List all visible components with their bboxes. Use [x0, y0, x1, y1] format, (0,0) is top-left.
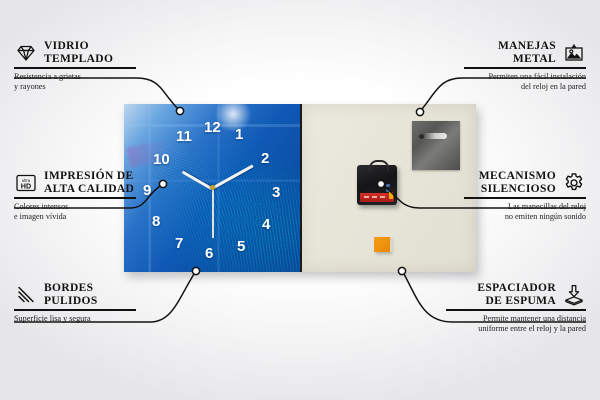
callout-rule [14, 197, 136, 199]
callout-title: MANEJASMETAL [498, 40, 556, 65]
battery-terminal [389, 192, 393, 199]
foam-spacer [374, 237, 390, 252]
hour-numeral-9: 9 [143, 183, 151, 198]
foam-spacer-icon [562, 283, 586, 307]
mechanism-hook [369, 160, 389, 171]
clock-hub [210, 185, 215, 190]
callout-header: MANEJASMETAL [464, 40, 586, 65]
clock-face: 12 1 2 3 4 5 6 7 8 9 10 11 [124, 104, 300, 272]
callout-vidrio-templado[interactable]: VIDRIOTEMPLADO Resistencia a grietasy ra… [14, 40, 136, 93]
hanger-hole [419, 134, 424, 139]
callout-title: MECANISMOSILENCIOSO [479, 170, 556, 195]
callout-manejas-metal[interactable]: MANEJASMETAL Permiten una fácil instalac… [464, 40, 586, 93]
callout-subtitle: Permite mantener una distanciauniforme e… [446, 314, 586, 335]
hour-numeral-10: 10 [153, 152, 170, 167]
hour-numeral-1: 1 [235, 127, 243, 142]
callout-impresion-alta-calidad[interactable]: ultra HD IMPRESIÓN DEALTA CALIDAD Colore… [14, 170, 136, 223]
metal-hanger [412, 121, 460, 170]
battery-band-1 [364, 196, 369, 198]
callout-header: BORDESPULIDOS [14, 282, 136, 307]
hour-numeral-6: 6 [205, 246, 213, 261]
callout-subtitle: Permiten una fácil instalacióndel reloj … [464, 72, 586, 93]
hour-numeral-4: 4 [262, 217, 270, 232]
callout-header: ESPACIADORDE ESPUMA [446, 282, 586, 307]
foam-spacer-shadow [390, 239, 394, 252]
callout-rule [446, 309, 586, 311]
battery-band-2 [372, 196, 377, 198]
callout-subtitle: Las manecillas del relojno emiten ningún… [464, 202, 586, 223]
hour-numeral-11: 11 [176, 129, 192, 144]
battery-band-3 [380, 196, 385, 198]
callout-title: ESPACIADORDE ESPUMA [477, 282, 556, 307]
hour-numeral-3: 3 [272, 185, 280, 200]
callout-title: BORDESPULIDOS [44, 282, 98, 307]
mechanism-terminal-1 [386, 184, 390, 187]
second-hand [212, 188, 214, 238]
picture-frame-hanger-icon [562, 41, 586, 65]
callout-subtitle: Colores intensose imagen vívida [14, 202, 136, 223]
callout-header: MECANISMOSILENCIOSO [464, 170, 586, 195]
hour-numeral-8: 8 [152, 214, 160, 229]
infographic-canvas: 12 1 2 3 4 5 6 7 8 9 10 11 [0, 0, 600, 400]
battery [360, 193, 394, 202]
diamond-icon [14, 41, 38, 65]
callout-rule [14, 67, 136, 69]
hour-numeral-12: 12 [204, 120, 221, 135]
callout-subtitle: Resistencia a grietasy rayones [14, 72, 136, 93]
clock-mechanism [357, 165, 397, 205]
callout-rule [464, 197, 586, 199]
ultra-hd-icon: ultra HD [14, 171, 38, 195]
svg-text:HD: HD [21, 181, 31, 190]
product-photo: 12 1 2 3 4 5 6 7 8 9 10 11 [124, 104, 476, 272]
hanger-slot [421, 133, 447, 139]
back-panel [302, 104, 476, 272]
callout-espaciador-espuma[interactable]: ESPACIADORDE ESPUMA Permite mantener una… [446, 282, 586, 335]
callout-rule [14, 309, 136, 311]
diagonal-lines-icon [14, 283, 38, 307]
callout-rule [464, 67, 586, 69]
callout-subtitle: Superficie lisa y segura [14, 314, 136, 324]
hour-numeral-7: 7 [175, 236, 183, 251]
callout-header: VIDRIOTEMPLADO [14, 40, 136, 65]
hour-numeral-5: 5 [237, 239, 245, 254]
callout-mecanismo-silencioso[interactable]: MECANISMOSILENCIOSO Las manecillas del r… [464, 170, 586, 223]
gear-icon [562, 171, 586, 195]
callout-header: ultra HD IMPRESIÓN DEALTA CALIDAD [14, 170, 136, 195]
callout-bordes-pulidos[interactable]: BORDESPULIDOS Superficie lisa y segura [14, 282, 136, 324]
hour-numeral-2: 2 [261, 151, 269, 166]
callout-title: IMPRESIÓN DEALTA CALIDAD [44, 170, 134, 195]
callout-title: VIDRIOTEMPLADO [44, 40, 113, 65]
